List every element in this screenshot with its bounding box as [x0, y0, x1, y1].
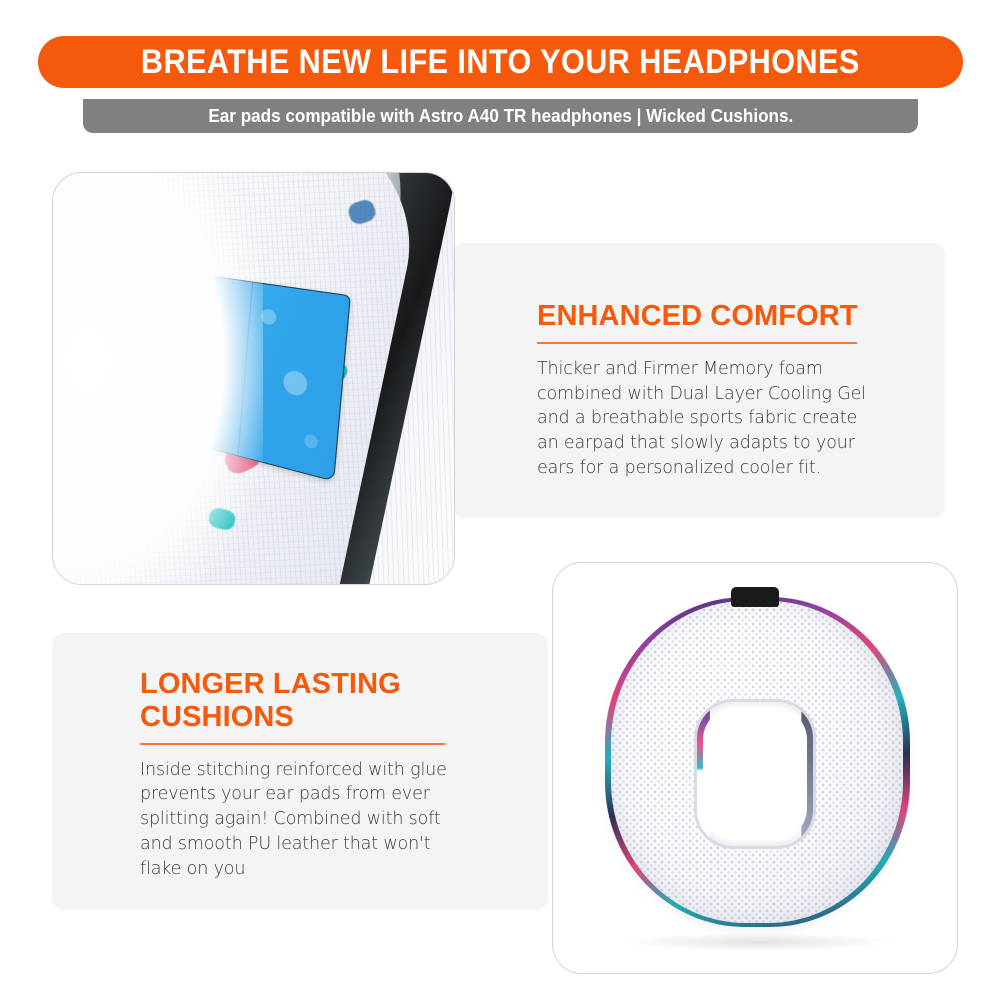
feature-heading-enhanced-comfort: ENHANCED COMFORT: [537, 300, 867, 333]
photo-vignette: [52, 172, 263, 585]
ear-opening-inner: [703, 708, 807, 840]
page-title: BREATHE NEW LIFE INTO YOUR HEADPHONES: [141, 45, 860, 79]
feature-longer-lasting-cushions: LONGER LASTING CUSHIONS Inside stitching…: [140, 668, 450, 882]
earpad-ear-opening: [694, 699, 816, 849]
heading-divider-enhanced-comfort: [537, 342, 857, 344]
earpad-illustration: [553, 563, 957, 973]
heading-divider-longer-lasting-cushions: [140, 743, 445, 745]
feature-heading-longer-lasting-cushions: LONGER LASTING CUSHIONS: [140, 668, 450, 734]
header-banner: BREATHE NEW LIFE INTO YOUR HEADPHONES: [38, 36, 963, 88]
subtitle-text: Ear pads compatible with Astro A40 TR he…: [208, 107, 793, 125]
infographic-page: BREATHE NEW LIFE INTO YOUR HEADPHONES Ea…: [0, 0, 1000, 1000]
earpad-drop-shadow: [623, 933, 893, 951]
feature-body-enhanced-comfort: Thicker and Firmer Memory foam combined …: [537, 357, 867, 481]
cooling-gel-illustration: [53, 173, 454, 584]
feature-enhanced-comfort: ENHANCED COMFORT Thicker and Firmer Memo…: [537, 300, 867, 481]
subtitle-bar: Ear pads compatible with Astro A40 TR he…: [83, 99, 918, 133]
feature-body-longer-lasting-cushions: Inside stitching reinforced with glue pr…: [140, 758, 450, 882]
photo-cooling-gel-closeup: [52, 172, 455, 585]
earpad-mounting-tab: [731, 587, 779, 607]
photo-earpad-front: [552, 562, 958, 974]
